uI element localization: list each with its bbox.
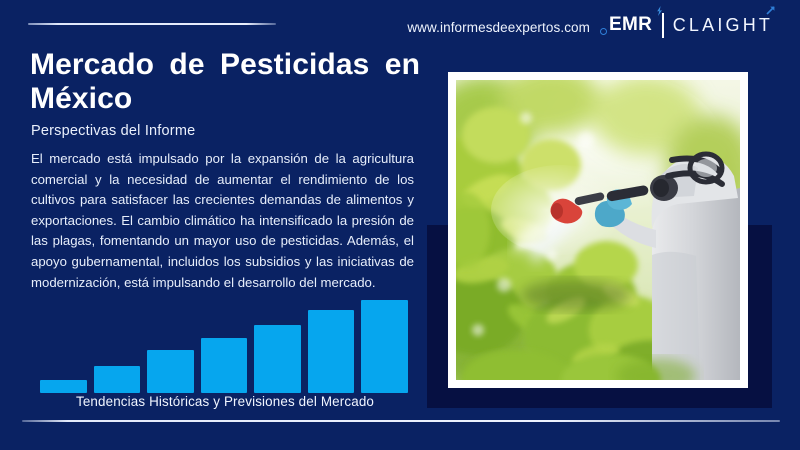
site-url-text: www.informesdeexpertos.com xyxy=(385,20,590,35)
pesticide-spraying-photo xyxy=(456,80,740,380)
chart-bar xyxy=(94,366,141,393)
chart-bar xyxy=(361,300,408,393)
logo-divider-icon xyxy=(662,13,664,38)
logo-spark-icon xyxy=(656,3,663,13)
logo-emr-text: EMR xyxy=(609,14,652,36)
logo-claight-text: CLAIGHT xyxy=(673,15,773,36)
report-overview-text: El mercado está impulsado por la expansi… xyxy=(31,149,414,293)
chart-bar xyxy=(308,310,355,393)
chart-bar xyxy=(201,338,248,393)
header-divider-rule xyxy=(28,23,276,25)
chart-caption: Tendencias Históricas y Previsiones del … xyxy=(30,394,420,409)
report-cover-slide: www.informesdeexpertos.com EMR CLAIGHT M… xyxy=(0,0,800,450)
market-trend-bar-chart xyxy=(40,293,408,393)
emr-claight-logo[interactable]: EMR CLAIGHT xyxy=(600,12,773,38)
logo-arrow-icon xyxy=(765,3,776,14)
logo-circle-icon xyxy=(600,28,607,35)
chart-bar xyxy=(254,325,301,393)
page-subtitle: Perspectivas del Informe xyxy=(31,123,195,139)
footer-divider-rule xyxy=(22,420,780,422)
chart-bar xyxy=(40,380,87,393)
chart-bar xyxy=(147,350,194,393)
